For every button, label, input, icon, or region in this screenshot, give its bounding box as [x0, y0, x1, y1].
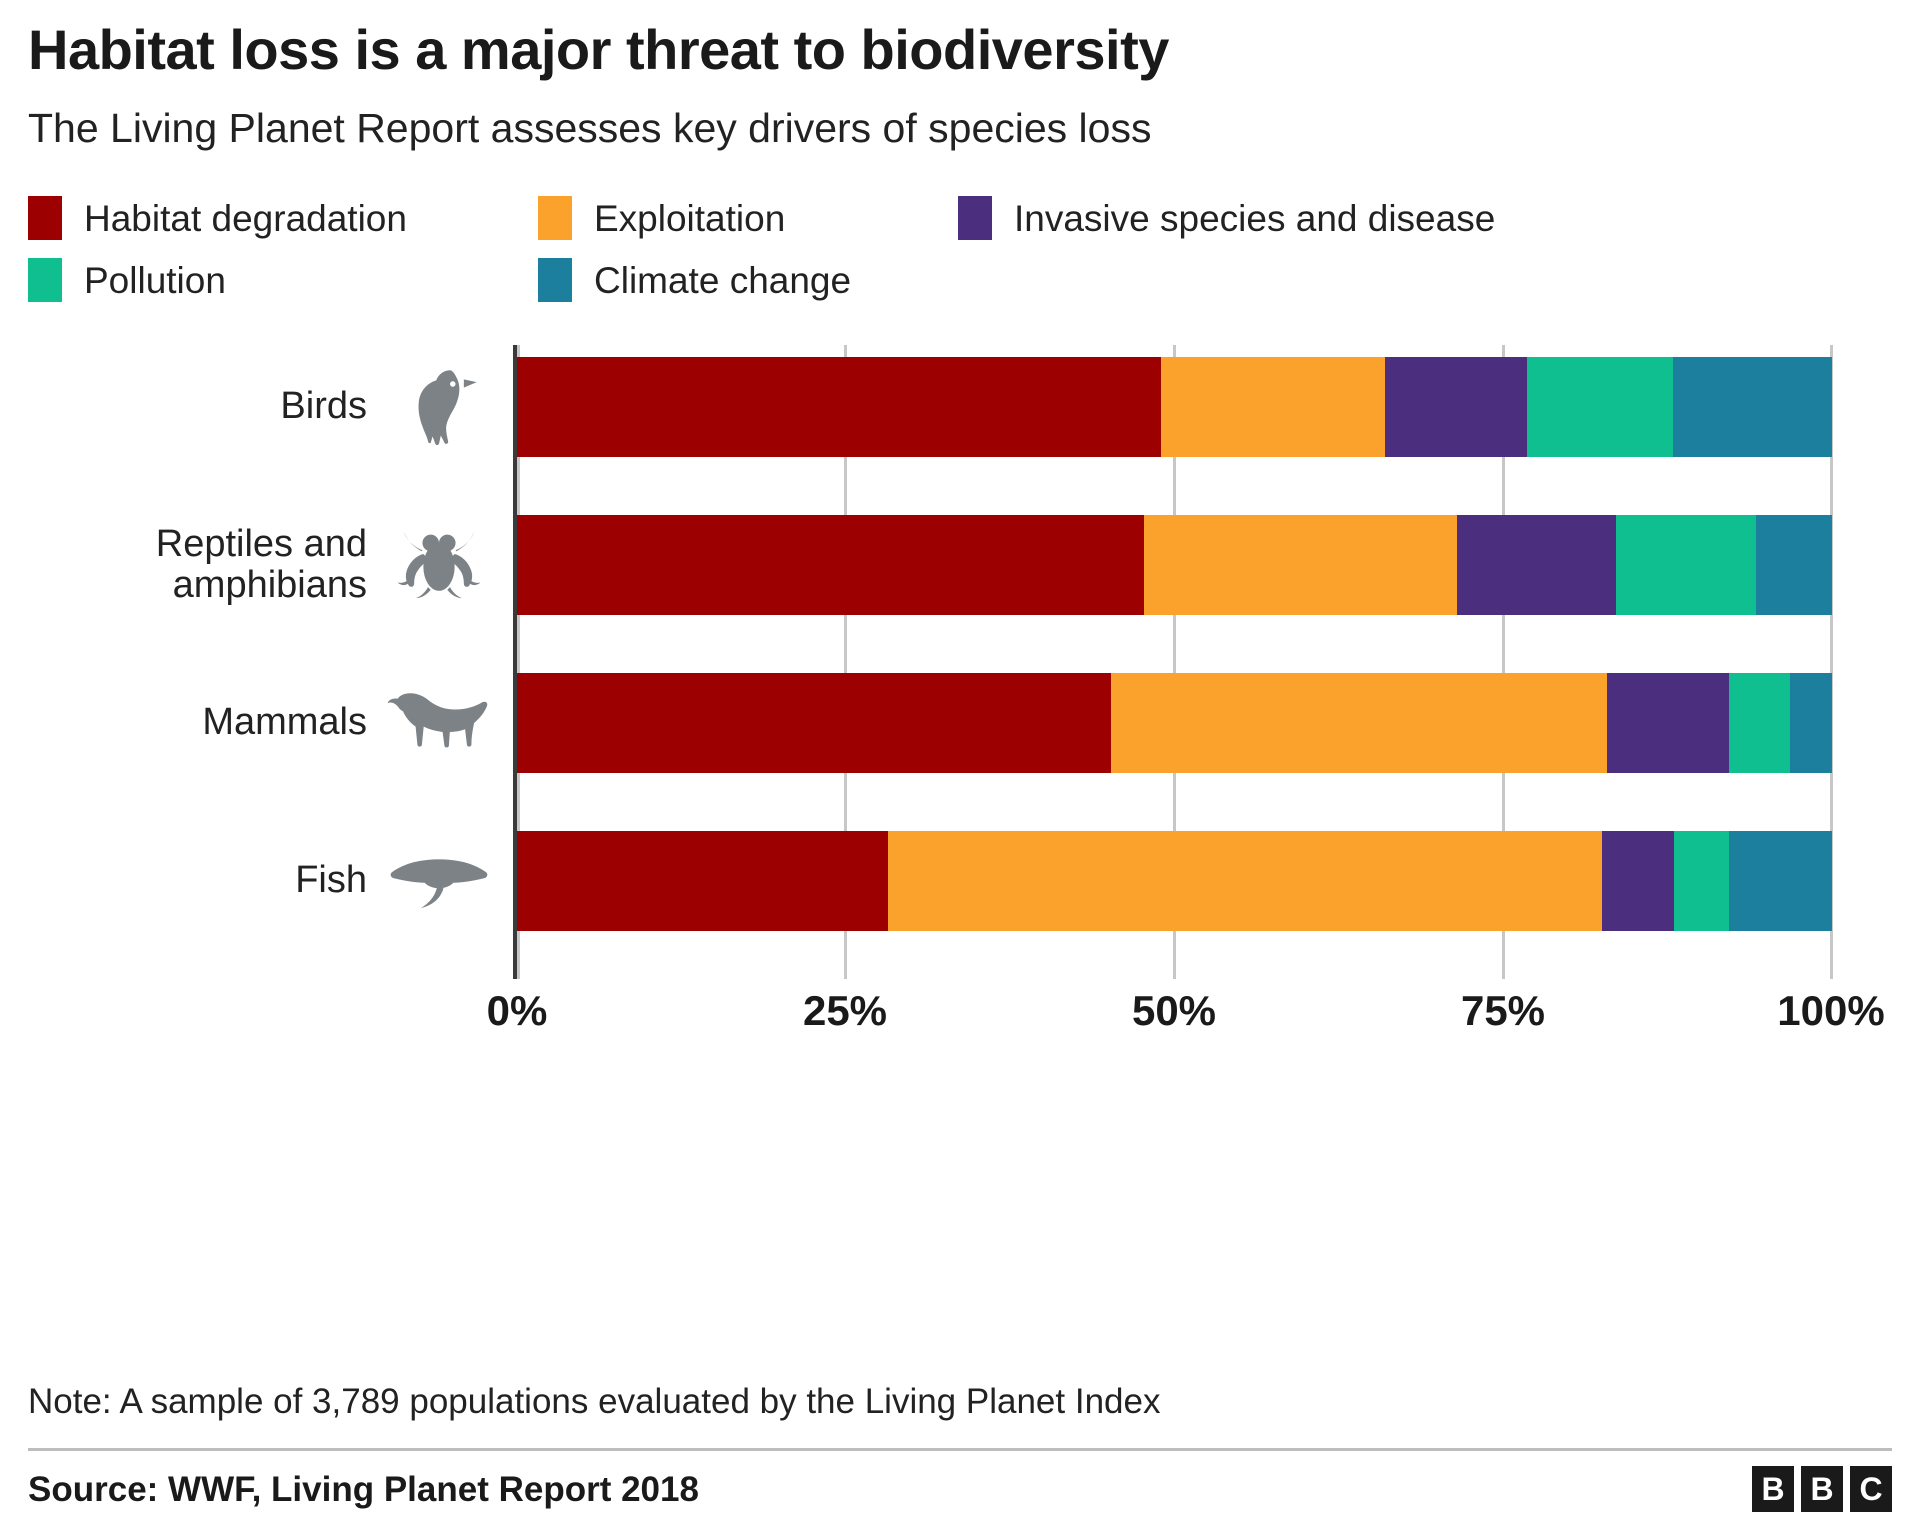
chart-note: Note: A sample of 3,789 populations eval…: [28, 1382, 1160, 1422]
bar-segment-exploitation[interactable]: [1144, 515, 1457, 615]
legend-item-climate-change[interactable]: Climate change: [538, 258, 958, 302]
bar-segment-habitat-degradation[interactable]: [517, 515, 1144, 615]
legend-swatch-invasive-species-and-disease: [958, 196, 992, 240]
legend-label-habitat-degradation: Habitat degradation: [84, 200, 407, 237]
frog-icon: [383, 517, 495, 613]
bar-segment-pollution[interactable]: [1616, 515, 1755, 615]
legend-label-invasive-species-and-disease: Invasive species and disease: [1014, 200, 1495, 237]
category-mammals: Mammals: [202, 673, 495, 773]
x-axis-ticks: 0% 25% 50% 75% 100%: [517, 987, 1832, 1047]
chart-area: Birds Reptiles and amphibians: [28, 339, 1892, 1019]
legend-row-1: Habitat degradation Exploitation Invasiv…: [28, 187, 1892, 249]
bar-segment-invasive-species-and-disease[interactable]: [1607, 673, 1729, 773]
category-fish: Fish: [295, 831, 495, 931]
bar-segment-habitat-degradation[interactable]: [517, 357, 1161, 457]
category-label-mammals: Mammals: [202, 702, 367, 743]
chart-page: Habitat loss is a major threat to biodiv…: [0, 0, 1920, 1536]
page-subtitle: The Living Planet Report assesses key dr…: [28, 78, 1892, 149]
legend-swatch-habitat-degradation: [28, 196, 62, 240]
legend-swatch-pollution: [28, 258, 62, 302]
bbc-logo: B B C: [1752, 1466, 1892, 1512]
bar-segment-exploitation[interactable]: [888, 831, 1602, 931]
plot-area: [517, 345, 1832, 979]
ray-icon: [383, 833, 495, 929]
bar-segment-climate-change[interactable]: [1756, 515, 1832, 615]
bars-container: [517, 345, 1832, 979]
bar-row-birds[interactable]: [517, 357, 1832, 457]
bar-segment-habitat-degradation[interactable]: [517, 831, 888, 931]
bar-row-mammals[interactable]: [517, 673, 1832, 773]
bar-segment-pollution[interactable]: [1729, 673, 1789, 773]
chart-legend: Habitat degradation Exploitation Invasiv…: [28, 187, 1892, 311]
x-tick-25: 25%: [803, 987, 887, 1035]
bar-segment-invasive-species-and-disease[interactable]: [1457, 515, 1616, 615]
bar-segment-pollution[interactable]: [1527, 357, 1673, 457]
category-birds: Birds: [280, 357, 495, 457]
legend-row-2: Pollution Climate change: [28, 249, 1892, 311]
bear-icon: [383, 675, 495, 771]
x-tick-50: 50%: [1132, 987, 1216, 1035]
legend-label-exploitation: Exploitation: [594, 200, 785, 237]
bbc-logo-letter-1: B: [1752, 1466, 1794, 1512]
legend-swatch-exploitation: [538, 196, 572, 240]
bird-icon: [383, 359, 495, 455]
bar-row-reptiles-and-amphibians[interactable]: [517, 515, 1832, 615]
bar-segment-exploitation[interactable]: [1111, 673, 1607, 773]
bar-segment-climate-change[interactable]: [1790, 673, 1832, 773]
legend-item-habitat-degradation[interactable]: Habitat degradation: [28, 196, 538, 240]
x-tick-100: 100%: [1777, 987, 1884, 1035]
bbc-logo-letter-2: B: [1801, 1466, 1843, 1512]
legend-label-climate-change: Climate change: [594, 262, 851, 299]
bar-segment-invasive-species-and-disease[interactable]: [1602, 831, 1674, 931]
bar-segment-climate-change[interactable]: [1729, 831, 1832, 931]
legend-swatch-climate-change: [538, 258, 572, 302]
category-label-birds: Birds: [280, 386, 367, 427]
bar-segment-invasive-species-and-disease[interactable]: [1385, 357, 1527, 457]
category-label-reptiles-and-amphibians: Reptiles and amphibians: [156, 524, 367, 606]
x-tick-75: 75%: [1461, 987, 1545, 1035]
category-label-fish: Fish: [295, 860, 367, 901]
footer-divider: [28, 1448, 1892, 1451]
category-axis: Birds Reptiles and amphibians: [28, 345, 517, 979]
legend-item-exploitation[interactable]: Exploitation: [538, 196, 958, 240]
bar-segment-climate-change[interactable]: [1673, 357, 1832, 457]
bar-segment-exploitation[interactable]: [1161, 357, 1385, 457]
bbc-logo-letter-3: C: [1850, 1466, 1892, 1512]
bar-segment-pollution[interactable]: [1674, 831, 1729, 931]
category-reptiles-and-amphibians: Reptiles and amphibians: [156, 515, 495, 615]
legend-item-pollution[interactable]: Pollution: [28, 258, 538, 302]
bar-segment-habitat-degradation[interactable]: [517, 673, 1111, 773]
page-title: Habitat loss is a major threat to biodiv…: [28, 0, 1892, 78]
bar-row-fish[interactable]: [517, 831, 1832, 931]
legend-item-invasive-species-and-disease[interactable]: Invasive species and disease: [958, 196, 1558, 240]
chart-source: Source: WWF, Living Planet Report 2018: [28, 1470, 699, 1510]
x-tick-0: 0%: [487, 987, 548, 1035]
legend-label-pollution: Pollution: [84, 262, 226, 299]
